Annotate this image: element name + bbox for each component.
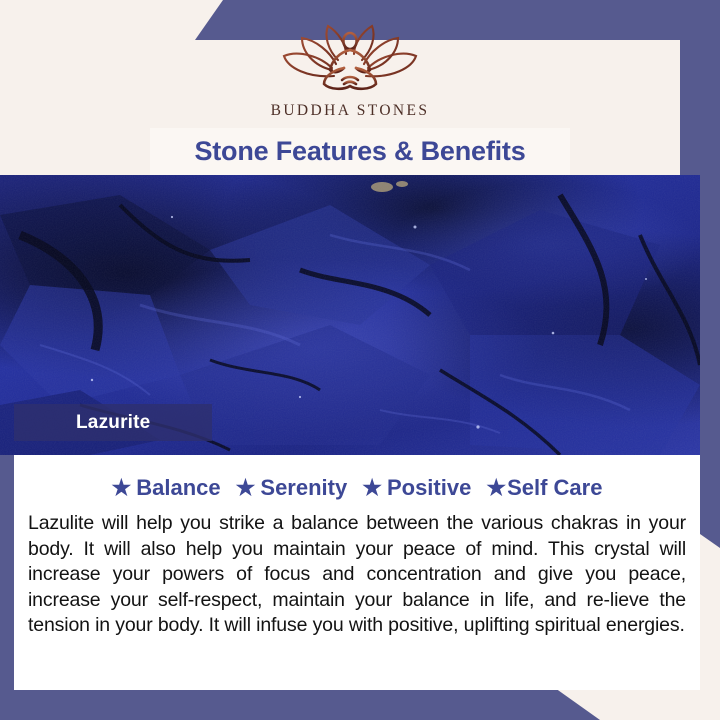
star-icon: ★ <box>112 477 132 499</box>
benefits-row: ★ Balance ★ Serenity ★ Positive ★ Self C… <box>14 455 700 501</box>
star-icon: ★ <box>236 477 256 499</box>
infographic-page: BUDDHA STONES Stone Features & Benefits <box>0 0 720 720</box>
star-icon: ★ <box>486 477 506 499</box>
benefit-item-self-care: ★ Self Care <box>486 475 602 501</box>
benefit-item-balance: ★ Balance <box>112 475 221 501</box>
content-panel: ★ Balance ★ Serenity ★ Positive ★ Self C… <box>14 455 700 690</box>
header: BUDDHA STONES Stone Features & Benefits <box>0 0 700 175</box>
benefit-label: Serenity <box>260 475 347 501</box>
stone-description: Lazulite will help you strike a balance … <box>28 511 686 639</box>
brand-logo: BUDDHA STONES <box>0 18 700 120</box>
lotus-meditation-icon <box>274 18 426 98</box>
benefit-item-positive: ★ Positive <box>362 475 471 501</box>
page-title: Stone Features & Benefits <box>194 136 525 167</box>
stone-name-badge: Lazurite <box>14 404 212 441</box>
benefit-label: Self Care <box>507 475 602 501</box>
star-icon: ★ <box>362 477 382 499</box>
benefit-item-serenity: ★ Serenity <box>236 475 348 501</box>
benefit-label: Positive <box>387 475 471 501</box>
brand-name: BUDDHA STONES <box>271 102 430 120</box>
benefit-label: Balance <box>136 475 220 501</box>
stone-name: Lazurite <box>14 412 150 434</box>
frame-bar-bottom <box>0 688 600 720</box>
page-title-band: Stone Features & Benefits <box>150 128 570 175</box>
